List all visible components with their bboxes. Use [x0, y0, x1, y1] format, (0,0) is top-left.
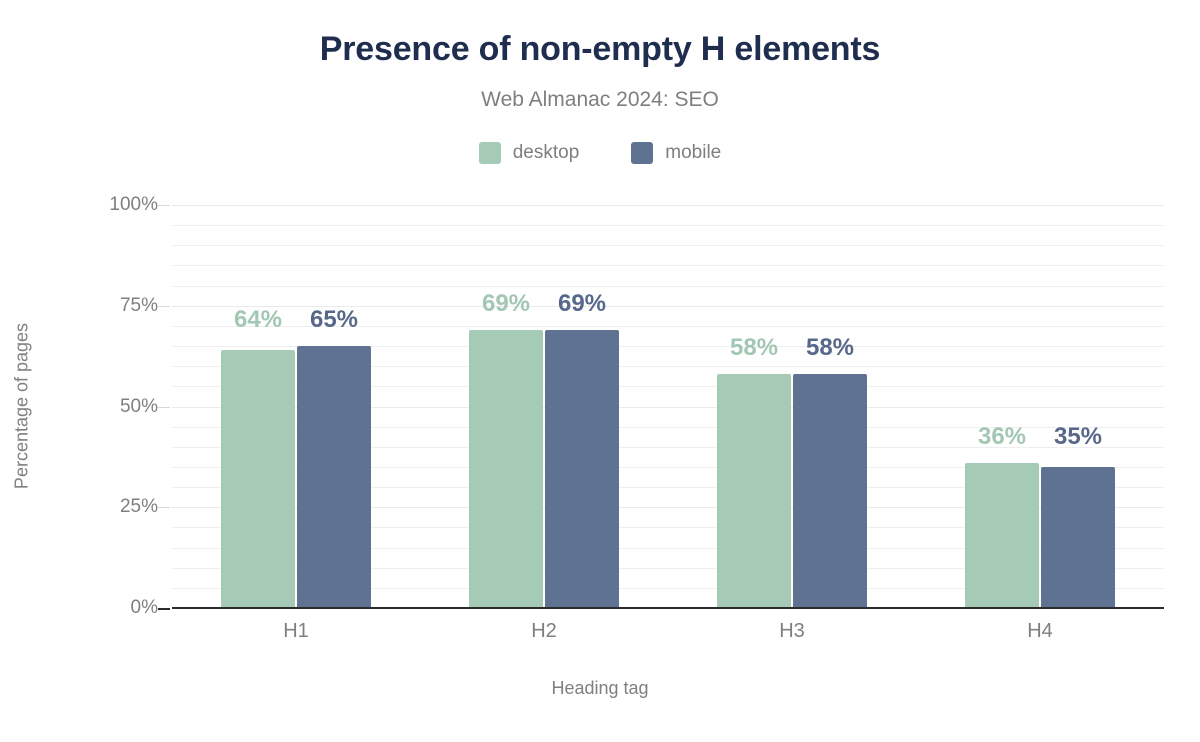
y-axis-tick-label: 100%: [109, 194, 158, 216]
y-axis-title: Percentage of pages: [12, 323, 33, 489]
y-axis-tick-label: 0%: [131, 597, 158, 619]
x-axis-tick-label-h4: H4: [1027, 620, 1053, 643]
value-label-mobile-h3: 58%: [806, 334, 854, 362]
bar-group: [965, 205, 1115, 608]
legend-swatch-mobile: [631, 142, 653, 164]
bar-group: [221, 205, 371, 608]
legend-label-desktop: desktop: [513, 142, 580, 164]
bar-mobile-h2[interactable]: [545, 330, 619, 608]
bar-group: [717, 205, 867, 608]
chart-subtitle: Web Almanac 2024: SEO: [0, 88, 1200, 112]
y-axis-tick-mark: [158, 608, 170, 610]
bar-mobile-h4[interactable]: [1041, 467, 1115, 608]
y-axis-tick-mark: [158, 407, 170, 408]
legend-swatch-desktop: [479, 142, 501, 164]
bar-mobile-h1[interactable]: [297, 346, 371, 608]
y-axis-tick-mark: [158, 205, 170, 206]
legend-item-mobile[interactable]: mobile: [631, 142, 721, 164]
bar-desktop-h2[interactable]: [469, 330, 543, 608]
y-axis-tick-label: 75%: [120, 295, 158, 317]
x-axis-tick-label-h3: H3: [779, 620, 805, 643]
value-label-desktop-h3: 58%: [730, 334, 778, 362]
bar-desktop-h1[interactable]: [221, 350, 295, 608]
legend-label-mobile: mobile: [665, 142, 721, 164]
plot-area: 64%65%69%69%58%58%36%35%: [172, 205, 1164, 608]
bar-desktop-h4[interactable]: [965, 463, 1039, 608]
value-label-mobile-h4: 35%: [1054, 423, 1102, 451]
chart-container: Presence of non-empty H elements Web Alm…: [0, 0, 1200, 742]
y-axis-tick-mark: [158, 507, 170, 508]
legend-item-desktop[interactable]: desktop: [479, 142, 580, 164]
x-axis-line: [172, 607, 1164, 609]
x-axis-tick-label-h2: H2: [531, 620, 557, 643]
x-axis-title: Heading tag: [0, 678, 1200, 699]
x-axis-tick-label-h1: H1: [283, 620, 309, 643]
bar-desktop-h3[interactable]: [717, 374, 791, 608]
value-label-desktop-h1: 64%: [234, 306, 282, 334]
value-label-desktop-h2: 69%: [482, 290, 530, 318]
value-label-mobile-h2: 69%: [558, 290, 606, 318]
y-axis-tick-label: 25%: [120, 496, 158, 518]
chart-title: Presence of non-empty H elements: [0, 30, 1200, 69]
bar-mobile-h3[interactable]: [793, 374, 867, 608]
y-axis-tick-mark: [158, 306, 170, 307]
y-axis-tick-label: 50%: [120, 396, 158, 418]
value-label-desktop-h4: 36%: [978, 423, 1026, 451]
chart-legend: desktop mobile: [0, 142, 1200, 164]
bar-group: [469, 205, 619, 608]
value-label-mobile-h1: 65%: [310, 306, 358, 334]
